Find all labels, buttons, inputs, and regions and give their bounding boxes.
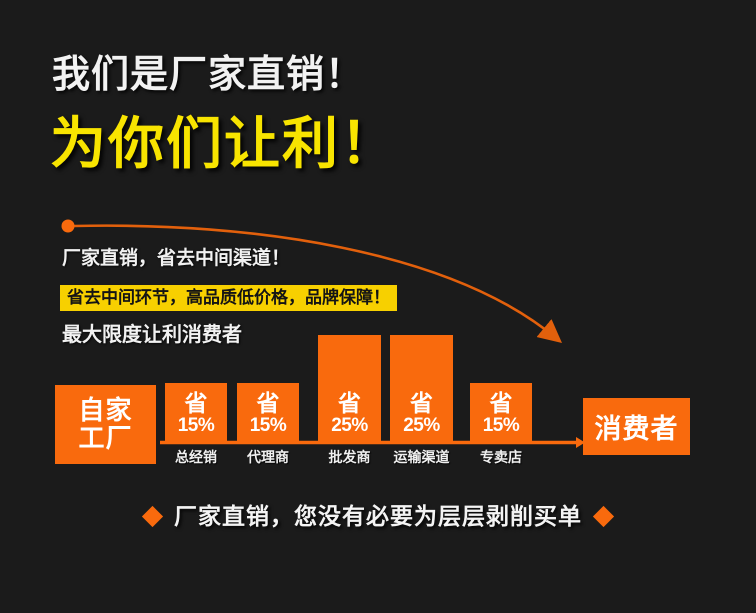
node-consumer: 消费者: [583, 398, 690, 455]
bar-运输渠道: 省25%: [390, 335, 453, 443]
tick-label-运输渠道: 运输渠道: [390, 447, 453, 467]
node-factory-line2: 工厂: [78, 425, 132, 453]
diamond-right-icon: [593, 506, 614, 527]
bar-批发商: 省25%: [318, 335, 381, 443]
node-factory: 自家 工厂: [55, 385, 156, 464]
bar-prefix-label: 省: [490, 391, 513, 415]
bar-value-label: 25%: [403, 415, 440, 437]
bar-专卖店: 省15%: [470, 383, 532, 443]
tick-label-总经销: 总经销: [165, 447, 227, 467]
node-consumer-label: 消费者: [595, 407, 679, 446]
tick-label-批发商: 批发商: [318, 447, 381, 467]
bar-总经销: 省15%: [165, 383, 227, 443]
node-factory-line1: 自家: [78, 397, 132, 425]
tick-label-代理商: 代理商: [237, 447, 299, 467]
bar-value-label: 15%: [250, 415, 287, 437]
bar-prefix-label: 省: [185, 391, 208, 415]
footer-tagline-text: 厂家直销，您没有必要为层层剥削买单: [174, 505, 582, 528]
baseline-arrow: [160, 440, 585, 445]
tick-label-专卖店: 专卖店: [470, 447, 532, 467]
bar-prefix-label: 省: [257, 391, 280, 415]
diamond-left-icon: [142, 506, 163, 527]
footer-tagline: 厂家直销，您没有必要为层层剥削买单: [0, 505, 756, 528]
bar-prefix-label: 省: [410, 391, 433, 415]
bar-value-label: 25%: [331, 415, 368, 437]
poster-canvas: 我们是厂家直销！ 为你们让利！ 厂家直销，省去中间渠道！ 省去中间环节，高品质低…: [0, 0, 756, 613]
bar-代理商: 省15%: [237, 383, 299, 443]
bar-value-label: 15%: [483, 415, 520, 437]
bar-prefix-label: 省: [338, 391, 361, 415]
bar-value-label: 15%: [178, 415, 215, 437]
